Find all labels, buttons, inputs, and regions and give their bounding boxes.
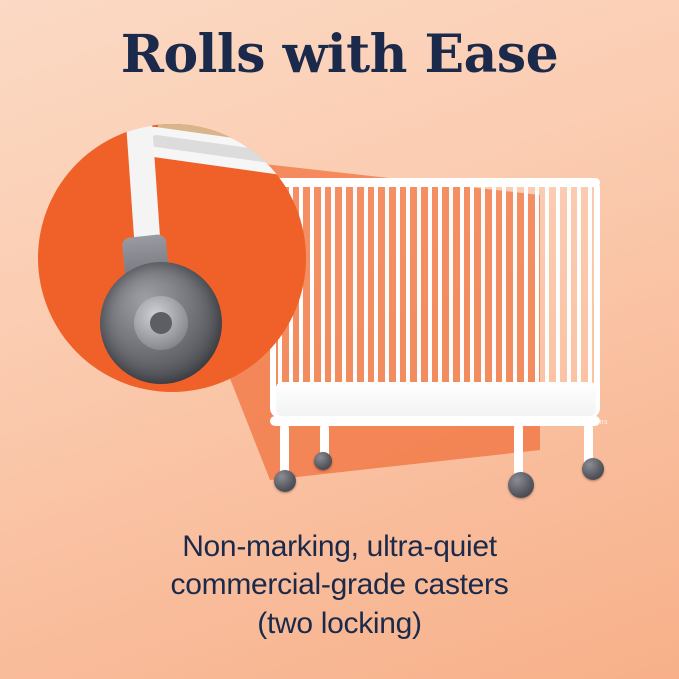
brand-watermark: foundations <box>566 419 608 426</box>
crib-slats <box>278 184 592 412</box>
product-feature-poster: Rolls with Ease <box>0 0 679 679</box>
crib-slat <box>417 184 421 412</box>
crib-slat <box>481 184 485 412</box>
crib-slat <box>406 184 410 412</box>
caption-line-3: (two locking) <box>0 605 679 643</box>
crib-slat <box>513 184 517 412</box>
page-title: Rolls with Ease <box>0 26 679 83</box>
caption-line-1: Non-marking, ultra-quiet <box>0 528 679 566</box>
caster-wheel-icon <box>508 472 534 498</box>
crib-slat <box>535 184 539 412</box>
magnifier-circle <box>38 124 306 392</box>
crib-slat <box>310 184 314 412</box>
crib-slat <box>470 184 474 412</box>
feature-caption: Non-marking, ultra-quiet commercial-grad… <box>0 528 679 643</box>
crib-slat <box>524 184 528 412</box>
crib-slat <box>396 184 400 412</box>
crib-slat <box>385 184 389 412</box>
crib-slat <box>588 184 592 412</box>
crib-slat <box>556 184 560 412</box>
crib-slat <box>342 184 346 412</box>
caster-wheel-icon <box>314 452 332 470</box>
caster-wheel-icon <box>582 458 604 480</box>
crib-slat <box>577 184 581 412</box>
crib-icon: foundations <box>262 170 622 500</box>
product-photo: foundations <box>0 110 679 500</box>
crib-slat <box>331 184 335 412</box>
crib-slat <box>449 184 453 412</box>
crib-slat <box>428 184 432 412</box>
crib-slat <box>438 184 442 412</box>
crib-slat <box>492 184 496 412</box>
crib-slat <box>353 184 357 412</box>
crib-slat <box>460 184 464 412</box>
crib-mattress <box>276 382 596 416</box>
crib-slat <box>567 184 571 412</box>
crib-slat <box>364 184 368 412</box>
crib-leg <box>514 424 523 476</box>
crib-slat <box>502 184 506 412</box>
crib-slat <box>545 184 549 412</box>
crib-slat <box>321 184 325 412</box>
crib-leg <box>280 424 289 476</box>
crib-base-rail <box>270 416 600 426</box>
caster-wheel-icon <box>274 470 296 492</box>
caster-hub-center <box>150 312 172 334</box>
crib-slat <box>374 184 378 412</box>
caption-line-2: commercial-grade casters <box>0 566 679 604</box>
